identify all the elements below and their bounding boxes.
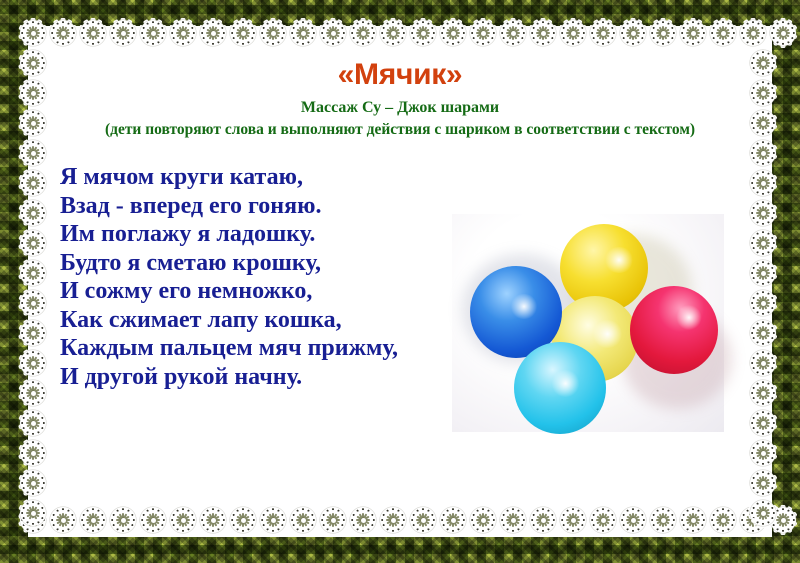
page-instruction: (дети повторяют слова и выполняют действ… [86, 119, 714, 140]
red-spiky-ball [630, 286, 718, 374]
poem-line: Взад - вперед его гоняю. [60, 192, 398, 221]
poem-line: И сожму его немножко, [60, 277, 398, 306]
page-subtitle: Массаж Су – Джок шарами [0, 99, 800, 117]
poem-line: И другой рукой начну. [60, 363, 398, 392]
poem-line: Я мячом круги катаю, [60, 163, 398, 192]
poem-line: Им поглажу я ладошку. [60, 220, 398, 249]
poster-page: «Мячик» Массаж Су – Джок шарами (дети по… [0, 0, 800, 563]
poem-text: Я мячом круги катаю,Взад - вперед его го… [60, 163, 398, 391]
poem-line: Будто я сметаю крошку, [60, 249, 398, 278]
poem-line: Как сжимает лапу кошка, [60, 306, 398, 335]
page-title: «Мячик» [0, 58, 800, 92]
cyan-spiky-ball [514, 342, 606, 434]
poem-line: Каждым пальцем мяч прижму, [60, 334, 398, 363]
massage-balls-photo [452, 214, 724, 432]
